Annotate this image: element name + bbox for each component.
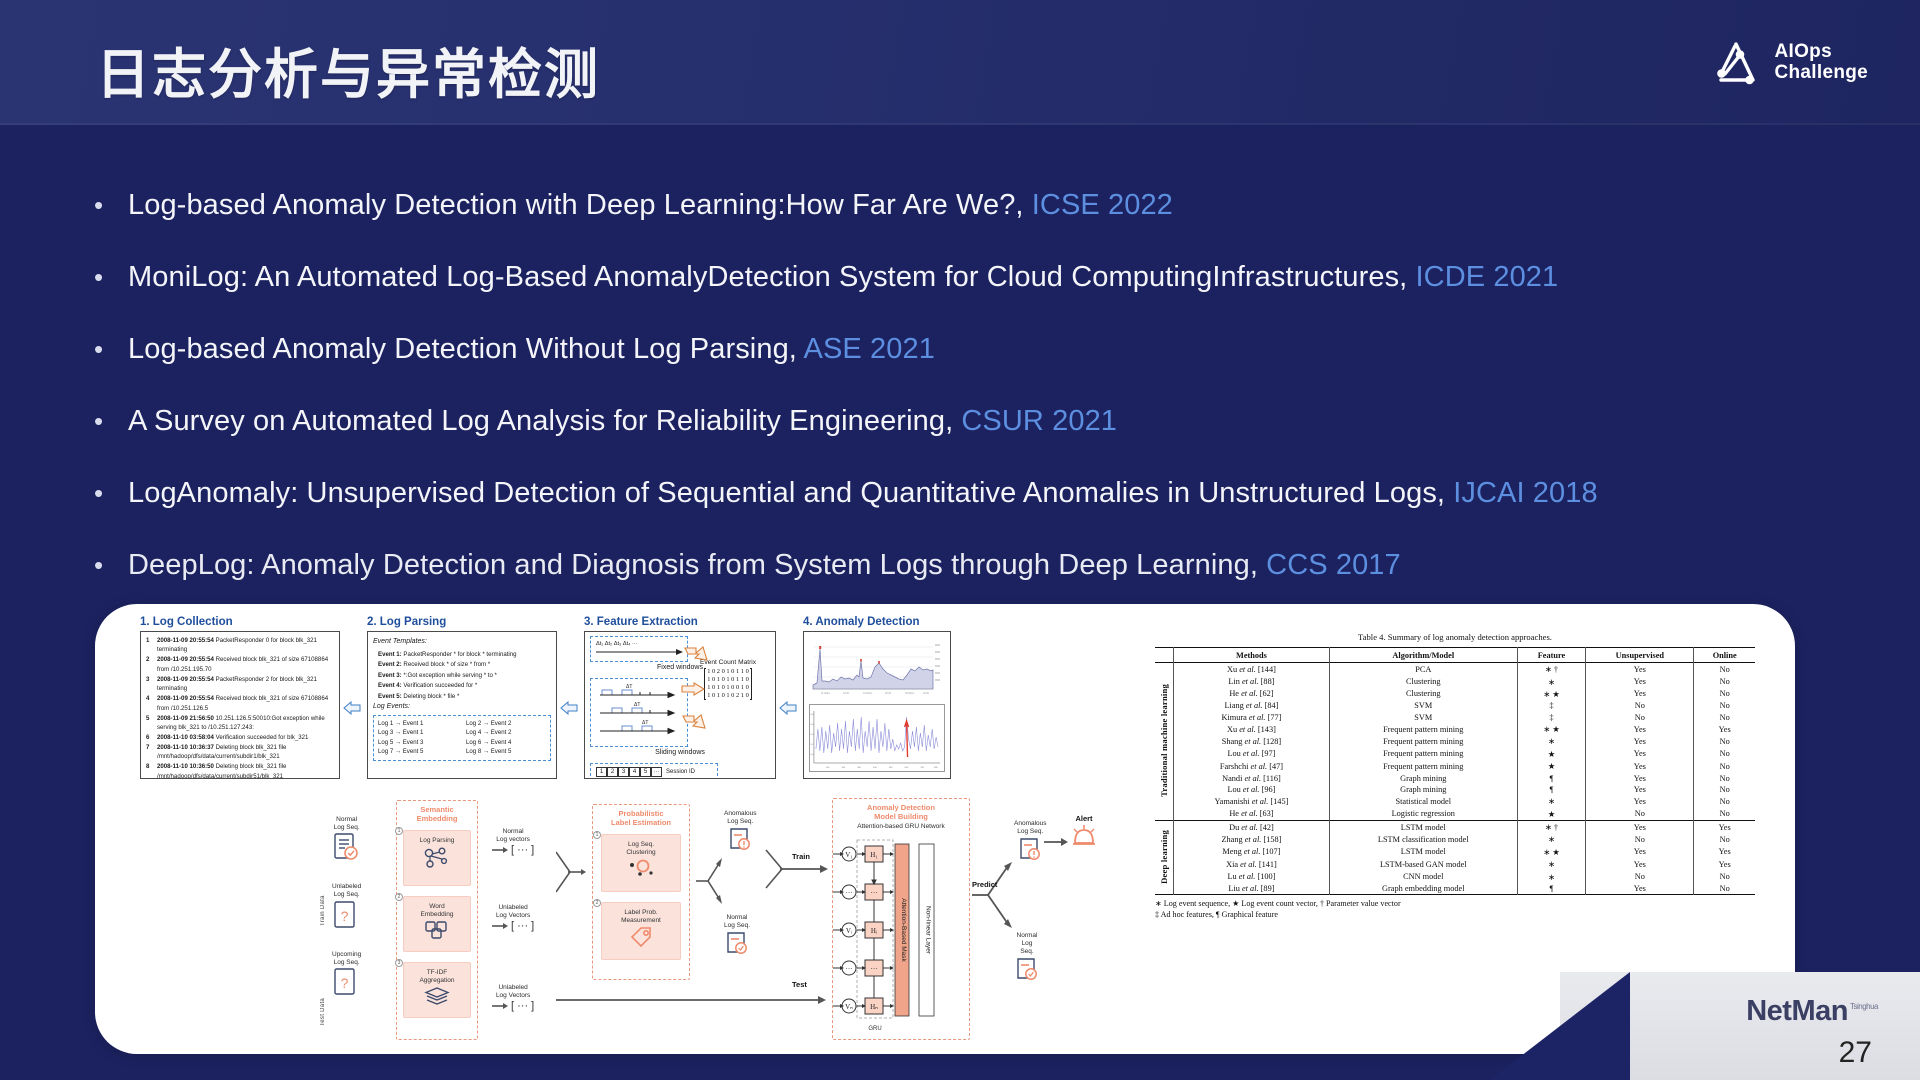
cell-online: No [1694,735,1755,747]
session-cell: 4 [629,767,640,777]
test-label: Test [792,980,807,989]
svg-text:···: ··· [871,889,878,897]
module-label: Log Parsing [404,837,470,845]
svg-text:11:00am: 11:00am [821,692,830,695]
vector-glyph: [ ··· ] [511,1000,534,1012]
cell-feature: ¶ [1517,784,1586,795]
event-template: Event 3: *:Got exception while serving *… [378,671,551,680]
bullet-marker: • [88,398,128,444]
input-caption: Upcoming Log Seq. [332,951,361,967]
area-chart-svg: 11:00am12:00 01:00pm02:00 03:00pm04:00 [809,637,945,699]
log-line-body: 2008-11-09 20:55:54 Received block blk_3… [157,694,334,713]
cell-unsupervised: No [1586,712,1694,723]
test-data-label: Test Data [320,946,326,1026]
log-line-body: 2008-11-09 20:55:54 PacketResponder 2 fo… [157,675,334,694]
cell-method: Yamanishi et al. [145] [1174,795,1330,807]
svg-text:?: ? [341,975,349,991]
cell-method: Kimura et al. [77] [1174,712,1330,723]
log-line-timestamp: 2008-11-09 20:55:54 [157,637,214,644]
cell-unsupervised: Yes [1586,723,1694,735]
cell-feature: ∗ [1517,795,1586,807]
cell-feature: ∗ [1517,833,1586,845]
output-caption: Anomalous Log Seq. [1014,820,1047,836]
session-cell: 3 [618,767,629,777]
cell-unsupervised: Yes [1586,760,1694,772]
train-data-label: Train Data [320,816,326,926]
template-key: Event 1: [378,651,402,658]
list-item: • LogAnomaly: Unsupervised Detection of … [88,470,1878,516]
bullet-text: Log-based Anomaly Detection Without Log … [128,326,1878,372]
bullet-marker: • [88,182,128,228]
output-caption: Normal Log Seq. [724,914,750,930]
log-event-map-item: Log 1 → Event 1 [378,719,458,728]
input-caption: Normal Log Seq. [332,816,361,832]
log-line: 62008-11-10 03:58:04 Verification succee… [146,733,334,742]
doc-check-icon [1014,956,1040,984]
cell-online: No [1694,795,1755,807]
group-subtitle: Attention-based GRU Network [833,823,969,831]
graph-nodes-icon [423,847,451,869]
svg-text:GRU: GRU [868,1026,881,1032]
cell-unsupervised: Yes [1586,675,1694,687]
bullet-text: MoniLog: An Automated Log-Based AnomalyD… [128,254,1878,300]
log-line-timestamp: 2008-11-09 20:55:54 [157,695,214,702]
cell-unsupervised: Yes [1586,663,1694,676]
bullet-marker: • [88,470,128,516]
timeline-arrow-icon [596,649,684,655]
template-value: Verification succeeded for * [403,682,477,689]
event-template: Event 4: Verification succeeded for * [378,681,551,690]
cell-unsupervised: Yes [1586,748,1694,760]
column-header-methods: Methods [1174,648,1330,663]
event-template: Event 2: Received block * of size * from… [378,660,551,669]
reference-venue: ASE 2021 [804,333,935,365]
svg-text:V₁: V₁ [845,851,853,859]
svg-text:Hᵢ: Hᵢ [871,927,878,935]
cell-feature: ∗ [1517,870,1586,882]
session-cell: 1 [596,767,607,777]
cell-feature: ∗ [1517,735,1586,747]
cell-unsupervised: Yes [1586,883,1694,895]
module-label: Log Seq. Clustering [602,841,680,857]
session-id-label: Session ID [666,768,695,777]
template-value: Deleting block * file * [403,693,459,700]
svg-text:···: ··· [846,889,853,897]
figure-panel: 1. Log Collection 12008-11-09 20:55:54 P… [95,604,1795,1054]
svg-text:200: 200 [842,767,846,769]
anomaly-line-chart: 0.80.60.4 0.20.0 100200300 400500600 700… [809,704,945,772]
cell-model: CNN model [1329,870,1517,882]
log-line-body: 2008-11-10 10:36:37 Deleting block blk_3… [157,743,334,762]
log-line-number: 7 [146,743,153,762]
log-line-timestamp: 2008-11-10 03:58:04 [157,734,214,741]
cell-feature: ∗ [1517,858,1586,870]
cell-feature: ∗ ★ [1517,846,1586,858]
reference-title: Log-based Anomaly Detection with Deep Le… [128,189,1032,221]
column-header-online: Online [1694,648,1755,663]
stage-title: 1. Log Collection [140,616,340,628]
page-number: 27 [1839,1036,1872,1070]
ecm-rows: 1 0 2 0 1 0 1 1 0 1 0 1 0 1 0 1 1 0 1 0 … [707,668,749,700]
vector-label: Normal Log vectors [492,828,534,844]
summary-table-figure: Table 4. Summary of log anomaly detectio… [1155,632,1755,921]
table-caption: Table 4. Summary of log anomaly detectio… [1155,632,1755,642]
cell-method: Du et al. [42] [1174,820,1330,833]
svg-text:300: 300 [857,767,861,769]
cell-unsupervised: No [1586,833,1694,845]
slide-header: 日志分析与异常检测 AIOps Challenge [0,0,1920,125]
svg-text:400: 400 [873,767,877,769]
cell-model: Graph embedding model [1329,883,1517,895]
cell-online: No [1694,808,1755,821]
cell-online: Yes [1694,820,1755,833]
log-line: 32008-11-09 20:55:54 PacketResponder 2 f… [146,675,334,694]
module-number: 1 [395,827,403,835]
module-label: Word Embedding [404,903,470,919]
list-item: • Log-based Anomaly Detection Without Lo… [88,326,1878,372]
log-line: 42008-11-09 20:55:54 Received block blk_… [146,694,334,713]
event-template: Event 1: PacketResponder * for block * t… [378,650,551,659]
log-event-map-item: Log 6 → Event 4 [466,738,546,747]
cell-unsupervised: Yes [1586,820,1694,833]
vector-unlabeled-train: Unlabeled Log Vectors [ ··· ] [492,904,534,932]
doc-alert-icon [1017,836,1043,864]
cell-feature: ¶ [1517,883,1586,895]
cell-method: Xu et al. [144] [1174,663,1330,676]
cell-method: Lou et al. [96] [1174,784,1330,795]
cell-feature: ‡ [1517,700,1586,711]
doc-check-icon [724,930,750,958]
cell-online: No [1694,870,1755,882]
log-line-number: 1 [146,636,153,655]
cell-unsupervised: Yes [1586,795,1694,807]
table-footnotes: ∗ Log event sequence, ★ Log event count … [1155,899,1755,921]
log-line-timestamp: 2008-11-10 10:36:50 [157,763,214,770]
cell-feature: ‡ [1517,712,1586,723]
doc-alert-icon [727,826,753,854]
log-analysis-pipeline-figure: 1. Log Collection 12008-11-09 20:55:54 P… [140,616,980,791]
group-header-spacer [1155,648,1174,663]
netman-brand: NetMan [1746,995,1848,1027]
reference-list: • Log-based Anomaly Detection with Deep … [88,182,1878,614]
cell-model: Clustering [1329,688,1517,700]
cell-feature: ∗ ★ [1517,723,1586,735]
cell-method: Liang et al. [84] [1174,700,1330,711]
aiops-challenge-logo: AIOps Challenge [1713,40,1869,86]
reference-title: LogAnomaly: Unsupervised Detection of Se… [128,477,1453,509]
cell-online: Yes [1694,858,1755,870]
reference-venue: CSUR 2021 [961,405,1117,437]
cluster-icon [624,857,658,877]
list-item: • DeepLog: Anomaly Detection and Diagnos… [88,542,1878,588]
log-events-map: Log 1 → Event 1 Log 2 → Event 2 Log 3 → … [373,715,551,761]
log-collection-box: 12008-11-09 20:55:54 PacketResponder 0 f… [140,631,340,779]
cell-online: No [1694,748,1755,760]
module-tfidf-aggregation: 3 TF-IDF Aggregation [403,962,471,1018]
svg-text:Vᵢ: Vᵢ [846,927,853,935]
stage-anomaly-detection: 4. Anomaly Detection [803,616,951,779]
line-chart-svg: 0.80.60.4 0.20.0 100200300 400500600 700… [810,705,944,771]
session-cell: ··· [651,767,662,777]
group-probabilistic-label-estimation: Probabilistic Label Estimation 1 Log Seq… [592,804,690,980]
cell-unsupervised: Yes [1586,735,1694,747]
alarm-bell-icon [1070,823,1098,849]
list-item: • Log-based Anomaly Detection with Deep … [88,182,1878,228]
group-title: Anomaly Detection Model Building [833,799,969,822]
netman-affiliation: Tsinghua [1850,1002,1878,1011]
merge-arrow-icon [556,850,586,898]
page-title: 日志分析与异常检测 [96,30,600,109]
ecm-row: 1 0 1 0 1 0 2 1 0 [707,692,749,700]
cell-model: Logistic regression [1329,808,1517,821]
log-line-body: 2008-11-09 20:55:54 Received block blk_3… [157,655,334,674]
log-line-body: 2008-11-10 10:36:50 Deleting block blk_3… [157,762,334,779]
cell-unsupervised: Yes [1586,772,1694,783]
log-event-map-item: Log 4 → Event 2 [466,728,546,737]
arrow-right-icon [1044,838,1068,846]
cell-model: Frequent pattern mining [1329,735,1517,747]
stage-log-collection: 1. Log Collection 12008-11-09 20:55:54 P… [140,616,340,779]
logo-line-2: Challenge [1775,63,1869,84]
log-event-map-item: Log 3 → Event 1 [378,728,458,737]
svg-text:ΔT: ΔT [634,702,640,708]
arrow-right-icon [492,922,508,930]
arrow-right-icon [681,682,705,696]
bullet-text: Log-based Anomaly Detection with Deep Le… [128,182,1878,228]
svg-text:700: 700 [920,767,924,769]
ecm-row: 1 0 1 0 1 0 1 1 0 [707,676,749,684]
stage-log-parsing: 2. Log Parsing Event Templates: Event 1:… [367,616,557,779]
aiops-triangle-nodes-icon [1713,40,1763,86]
cell-model: Graph mining [1329,784,1517,795]
summary-table: Methods Algorithm/Model Feature Unsuperv… [1155,647,1755,895]
logo-line-1: AIOps [1775,42,1869,63]
cell-model: LSTM model [1329,820,1517,833]
cell-feature: ★ [1517,748,1586,760]
input-upcoming-log-seq: Upcoming Log Seq. ? [332,951,361,1002]
cell-method: Lu et al. [100] [1174,870,1330,882]
cell-method: Farshchi et al. [47] [1174,760,1330,772]
slide: 日志分析与异常检测 AIOps Challenge • Log-based An… [0,0,1920,1080]
log-line: 22008-11-09 20:55:54 Received block blk_… [146,655,334,674]
template-key: Event 4: [378,682,402,689]
alert-label: Alert [1070,814,1098,823]
logo-text: AIOps Challenge [1775,42,1869,83]
module-label-prob-measurement: 2 Label Prob. Measurement [601,902,681,960]
cell-online: Yes [1694,846,1755,858]
row-group-label-traditional: Traditional machine learning [1155,663,1174,821]
reference-title: A Survey on Automated Log Analysis for R… [128,405,961,437]
template-value: PacketResponder * for block * terminatin… [403,651,516,658]
cell-model: SVM [1329,700,1517,711]
module-number: 2 [593,899,601,907]
log-line-number: 6 [146,733,153,742]
svg-text:ΔT: ΔT [642,720,648,726]
cell-method: Zhang et al. [158] [1174,833,1330,845]
row-group-text: Traditional machine learning [1159,684,1169,797]
cell-method: Lin et al. [88] [1174,675,1330,687]
doc-question-icon: ? [332,900,358,930]
column-header-feature: Feature [1517,648,1586,663]
column-header-algorithm: Algorithm/Model [1329,648,1517,663]
arrow-right-icon [492,1002,508,1010]
cell-feature: ∗ ★ [1517,688,1586,700]
svg-text:?: ? [341,908,349,924]
reference-venue: ICSE 2022 [1032,189,1173,221]
output-anomalous-log-seq: Anomalous Log Seq. [724,810,757,859]
bullet-text: LogAnomaly: Unsupervised Detection of Se… [128,470,1878,516]
log-line-number: 5 [146,714,153,733]
cell-online: No [1694,883,1755,895]
predict-anomalous-output: Anomalous Log Seq. [1014,820,1047,869]
doc-question-icon: ? [332,967,358,997]
log-line-body: 2008-11-09 21:56:50 10.251.126.5:50010:G… [157,714,334,733]
svg-text:H₁: H₁ [870,851,878,859]
ecm-row: 1 0 1 0 1 0 0 1 0 [707,684,749,692]
cell-method: Shang et al. [128] [1174,735,1330,747]
cell-method: Lou et al. [97] [1174,748,1330,760]
svg-text:Hₙ: Hₙ [870,1003,878,1011]
reference-title: Log-based Anomaly Detection Without Log … [128,333,804,365]
netman-logo: NetManTsinghua [1746,995,1878,1028]
module-word-embedding: 2 Word Embedding [403,896,471,952]
svg-text:Vₙ: Vₙ [845,1003,853,1011]
row-group-text: Deep learning [1159,830,1169,884]
cell-model: SVM [1329,712,1517,723]
cell-online: No [1694,700,1755,711]
cell-online: No [1694,675,1755,687]
output-caption: Anomalous Log Seq. [724,810,757,826]
module-number: 1 [593,831,601,839]
svg-text:04:00: 04:00 [923,692,930,695]
cell-feature: ∗ † [1517,663,1586,676]
cell-online: No [1694,688,1755,700]
svg-text:800: 800 [934,767,938,769]
cell-model: PCA [1329,663,1517,676]
input-column: Train Data Test Data Normal Log Seq. [320,816,361,1026]
vector-label: Unlabeled Log Vectors [492,904,534,920]
bullet-marker: • [88,542,128,588]
cell-model: Clustering [1329,675,1517,687]
cell-unsupervised: Yes [1586,846,1694,858]
list-item: • A Survey on Automated Log Analysis for… [88,398,1878,444]
column-header-unsupervised: Unsupervised [1586,648,1694,663]
svg-text:ΔT: ΔT [626,684,632,690]
group-title: Semantic Embedding [397,801,477,824]
input-caption: Unlabeled Log Seq. [332,883,361,899]
stage-title: 3. Feature Extraction [584,616,776,628]
log-line-number: 4 [146,694,153,713]
ecm-row: 1 0 2 0 1 0 1 1 0 [707,668,749,676]
arrow-right-icon [779,701,797,715]
row-group-label-deep-learning: Deep learning [1155,820,1174,894]
feature-extraction-box: Δt₁ Δt₂ Δt₃ Δt₄ ··· Fixed windows ΔT [584,631,776,779]
vector-glyph: [ ··· ] [511,920,534,932]
arrow-right-icon [343,701,361,715]
cell-model: Statistical model [1329,795,1517,807]
template-key: Event 5: [378,693,402,700]
svg-text:500: 500 [889,767,893,769]
log-line-body: 2008-11-10 03:58:04 Verification succeed… [157,733,334,742]
template-value: *:Got exception while serving * to * [403,672,497,679]
cell-model: LSTM model [1329,846,1517,858]
session-window-block: 1 2 3 4 5 ··· Session ID [590,763,718,779]
log-line-timestamp: 2008-11-09 20:55:54 [157,676,214,683]
cell-feature: ★ [1517,760,1586,772]
fixed-window-block: Δt₁ Δt₂ Δt₃ Δt₄ ··· [590,636,688,662]
predict-split-arrow-icon [972,862,1012,928]
svg-text:···: ··· [846,965,853,973]
group-semantic-embedding: Semantic Embedding 1 Log Parsing [396,800,478,1040]
svg-text:100: 100 [826,767,830,769]
cell-feature: ¶ [1517,772,1586,783]
reference-venue: ICDE 2021 [1416,261,1559,293]
reference-venue: IJCAI 2018 [1453,477,1597,509]
module-label: TF-IDF Aggregation [404,969,470,985]
reference-title: MoniLog: An Automated Log-Based AnomalyD… [128,261,1416,293]
svg-text:02:00: 02:00 [885,692,892,695]
cell-online: No [1694,712,1755,723]
cell-method: Liu et al. [89] [1174,883,1330,895]
template-value: Received block * of size * from * [403,661,490,668]
svg-text:03:00pm: 03:00pm [905,692,914,695]
log-event-map-item: Log 2 → Event 2 [466,719,546,728]
bullet-marker: • [88,254,128,300]
stage-title: 2. Log Parsing [367,616,557,628]
cell-method: Meng et al. [107] [1174,846,1330,858]
vector-unlabeled-test: Unlabeled Log Vectors [ ··· ] [492,984,534,1012]
log-line-body: 2008-11-09 20:55:54 PacketResponder 0 fo… [157,636,334,655]
input-unlabeled-log-seq: Unlabeled Log Seq. ? [332,883,361,934]
alert-output: Alert [1070,814,1098,854]
cell-method: He et al. [63] [1174,808,1330,821]
module-label: Label Prob. Measurement [602,909,680,925]
session-cell: 5 [640,767,651,777]
test-path-arrow-icon [556,996,826,1004]
cell-online: No [1694,833,1755,845]
gru-network-diagram: V₁ H₁ ··· ··· [833,834,965,1034]
templates-heading: Event Templates: [373,637,551,648]
cell-method: He et al. [62] [1174,688,1330,700]
anomaly-detection-box: 11:00am12:00 01:00pm02:00 03:00pm04:00 [803,631,951,779]
template-key: Event 3: [378,672,402,679]
group-title: Probabilistic Label Estimation [593,805,689,828]
input-normal-log-seq: Normal Log Seq. [332,816,361,867]
bullet-text: DeepLog: Anomaly Detection and Diagnosis… [128,542,1878,588]
sliding-window-block: ΔT ΔT ΔT [590,678,688,747]
svg-text:01:00pm: 01:00pm [863,692,872,695]
arrow-diagonal-down-icon [683,646,709,668]
log-line-number: 8 [146,762,153,779]
stage-feature-extraction: 3. Feature Extraction Δt₁ Δt₂ Δt₃ Δt₄ ··… [584,616,776,779]
footnote-line-2: ‡ Ad hoc features, ¶ Graphical feature [1155,910,1755,921]
sliding-windows-icon: ΔT ΔT ΔT [596,682,688,740]
session-cells: 1 2 3 4 5 ··· [596,767,662,777]
cell-feature: ∗ [1517,675,1586,687]
cell-model: LSTM-based GAN model [1329,858,1517,870]
log-line-number: 2 [146,655,153,674]
cell-feature: ∗ † [1517,820,1586,833]
log-events-heading: Log Events: [373,702,551,713]
arrow-right-icon [492,846,508,854]
cell-unsupervised: No [1586,700,1694,711]
log-parsing-box: Event Templates: Event 1: PacketResponde… [367,631,557,779]
cell-model: LSTM classification model [1329,833,1517,845]
log-line: 12008-11-09 20:55:54 PacketResponder 0 f… [146,636,334,655]
cell-online: No [1694,663,1755,676]
delta-t-label: Δt₁ Δt₂ Δt₃ Δt₄ ··· [596,640,682,649]
cell-method: Nandi et al. [116] [1174,772,1330,783]
